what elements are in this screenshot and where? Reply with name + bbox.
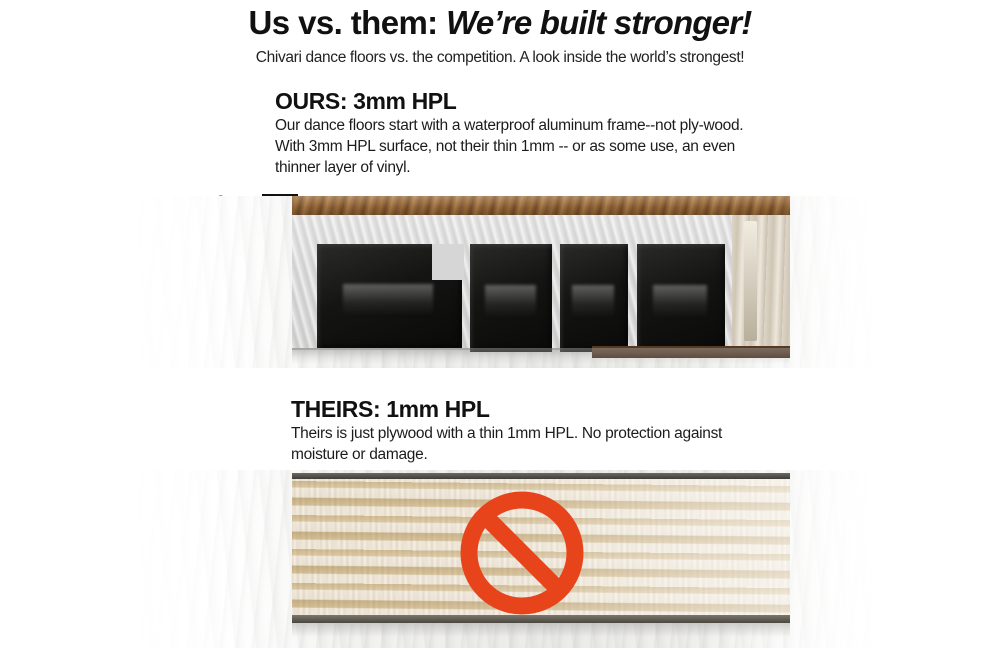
page-title-italic: We’re built stronger! (446, 4, 751, 41)
section-body-ours: Our dance floors start with a waterproof… (275, 115, 775, 178)
aluminum-drop-shadow (292, 348, 790, 364)
section-heading-ours: OURS: 3mm HPL (275, 88, 456, 115)
chamber-gleam (343, 284, 433, 315)
chamber-gleam (572, 285, 614, 317)
aluminum-chamber-notch (432, 244, 464, 280)
chamber-gleam (485, 285, 536, 317)
chamber-gleam (653, 285, 708, 317)
no-entry-sign-icon (458, 489, 586, 617)
page-title: Us vs. them: We’re built stronger! (0, 4, 1000, 42)
aluminum-edge-detail (732, 215, 790, 348)
section-body-theirs: Theirs is just plywood with a thin 1mm H… (291, 423, 771, 465)
page-subtitle: Chivari dance floors vs. the competition… (0, 49, 1000, 67)
aluminum-frame-cross-section-photo (292, 196, 790, 364)
section-heading-theirs: THEIRS: 1mm HPL (291, 396, 489, 423)
page-title-normal: Us vs. them: (249, 4, 447, 41)
infographic-page: Us vs. them: We’re built stronger! Chiva… (0, 0, 1000, 650)
aluminum-chamber (560, 244, 628, 352)
plywood-drop-shadow (292, 623, 790, 637)
hpl-3mm-top-layer (292, 196, 790, 215)
aluminum-chamber (470, 244, 552, 352)
aluminum-chamber (637, 244, 725, 352)
